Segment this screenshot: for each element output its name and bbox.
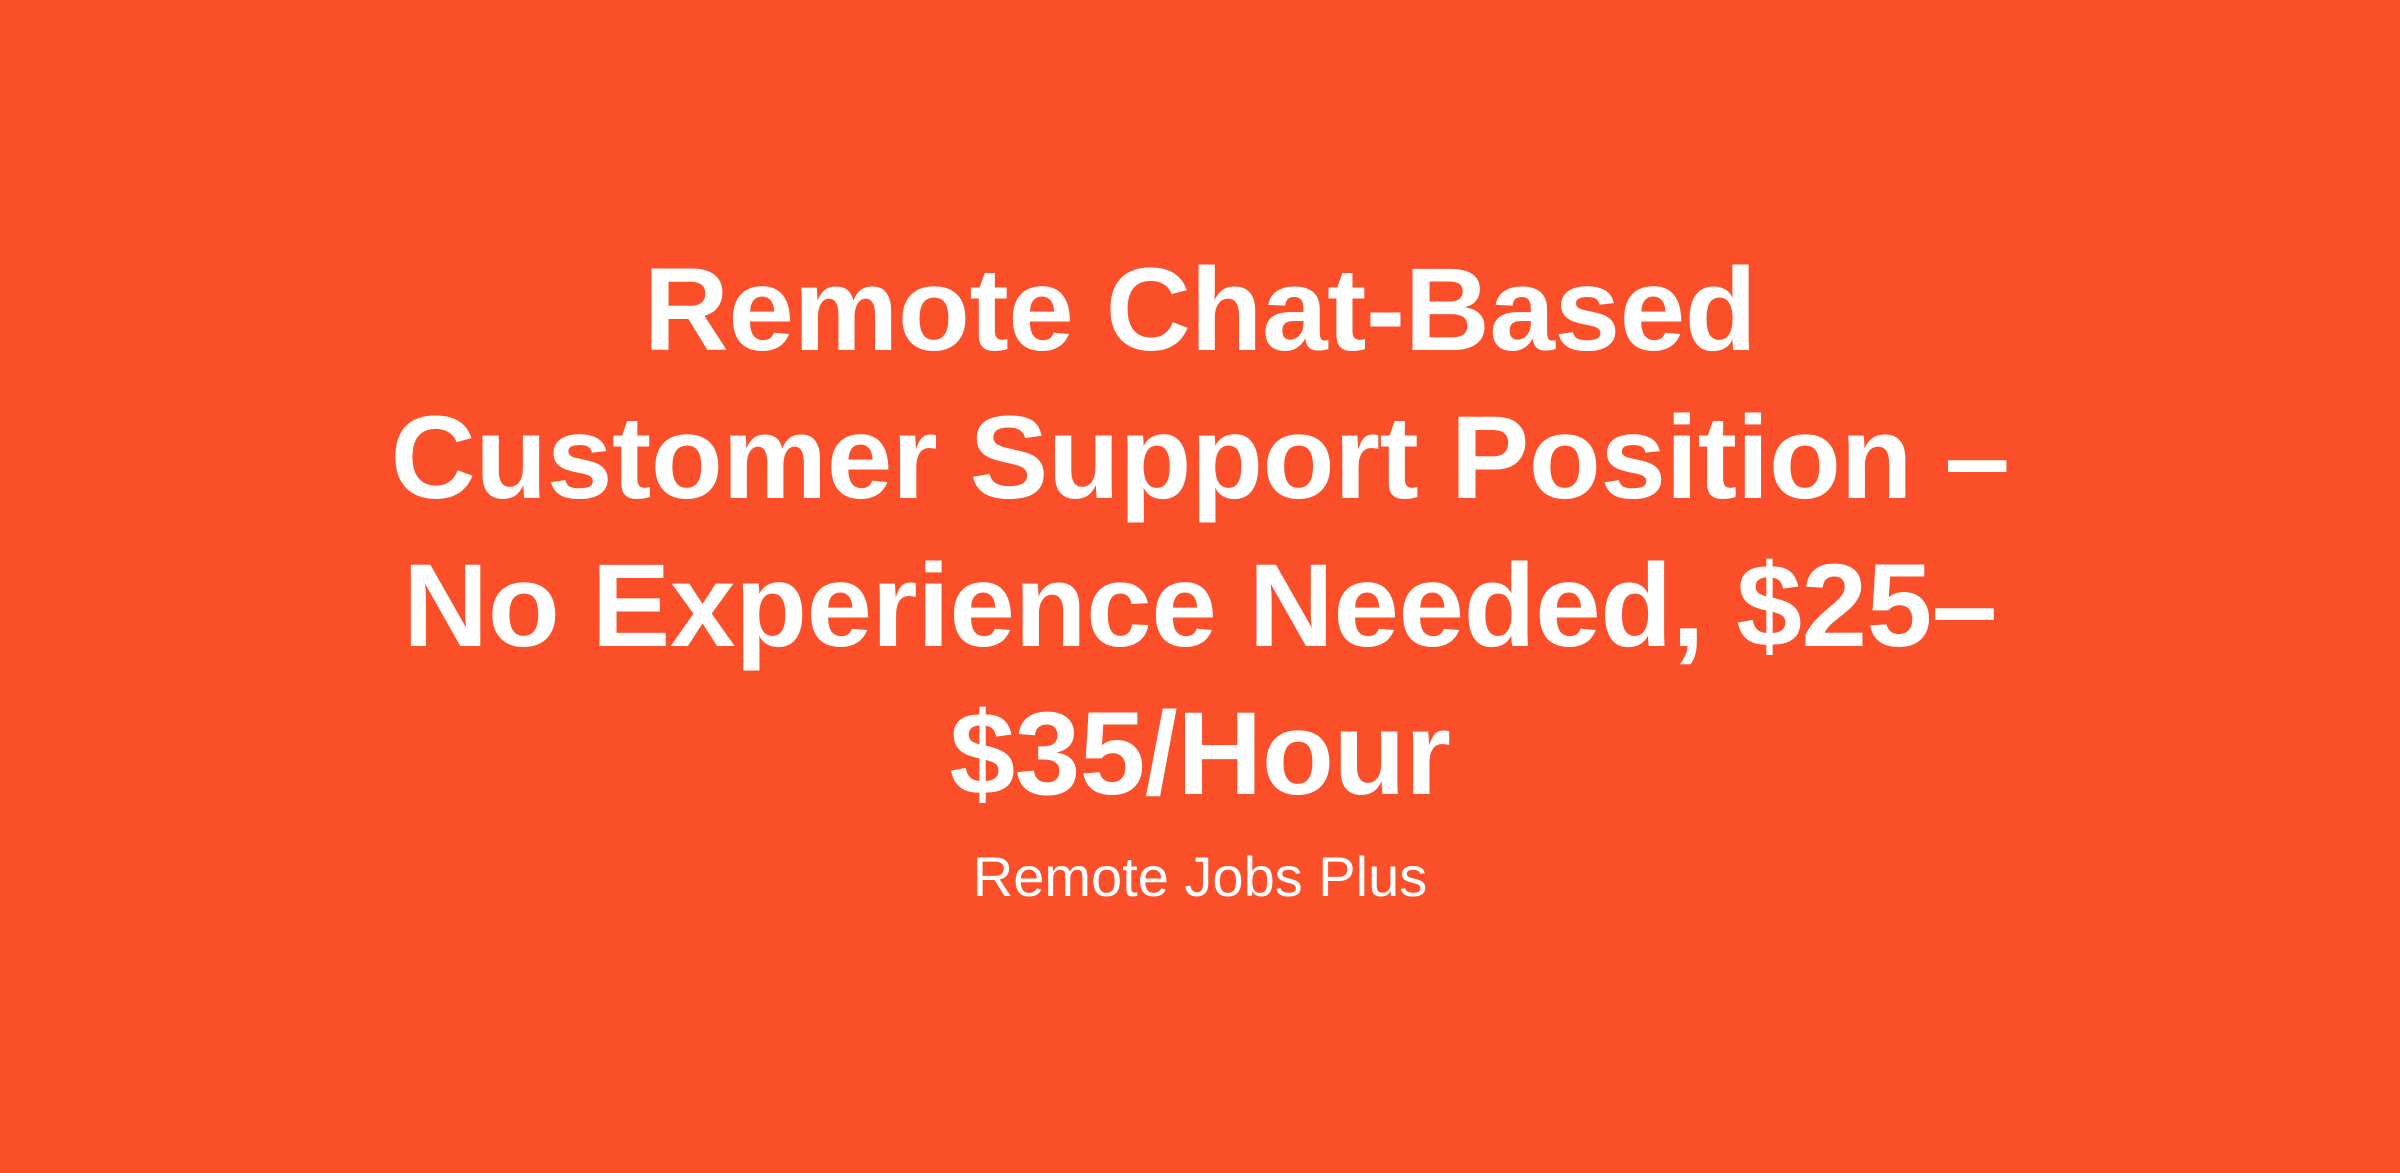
share-card-content: Remote Chat-Based Customer Support Posit…	[320, 236, 2080, 914]
page-title: Remote Chat-Based Customer Support Posit…	[380, 236, 2020, 828]
site-name: Remote Jobs Plus	[973, 840, 1427, 914]
share-card: Remote Chat-Based Customer Support Posit…	[0, 0, 2400, 1173]
